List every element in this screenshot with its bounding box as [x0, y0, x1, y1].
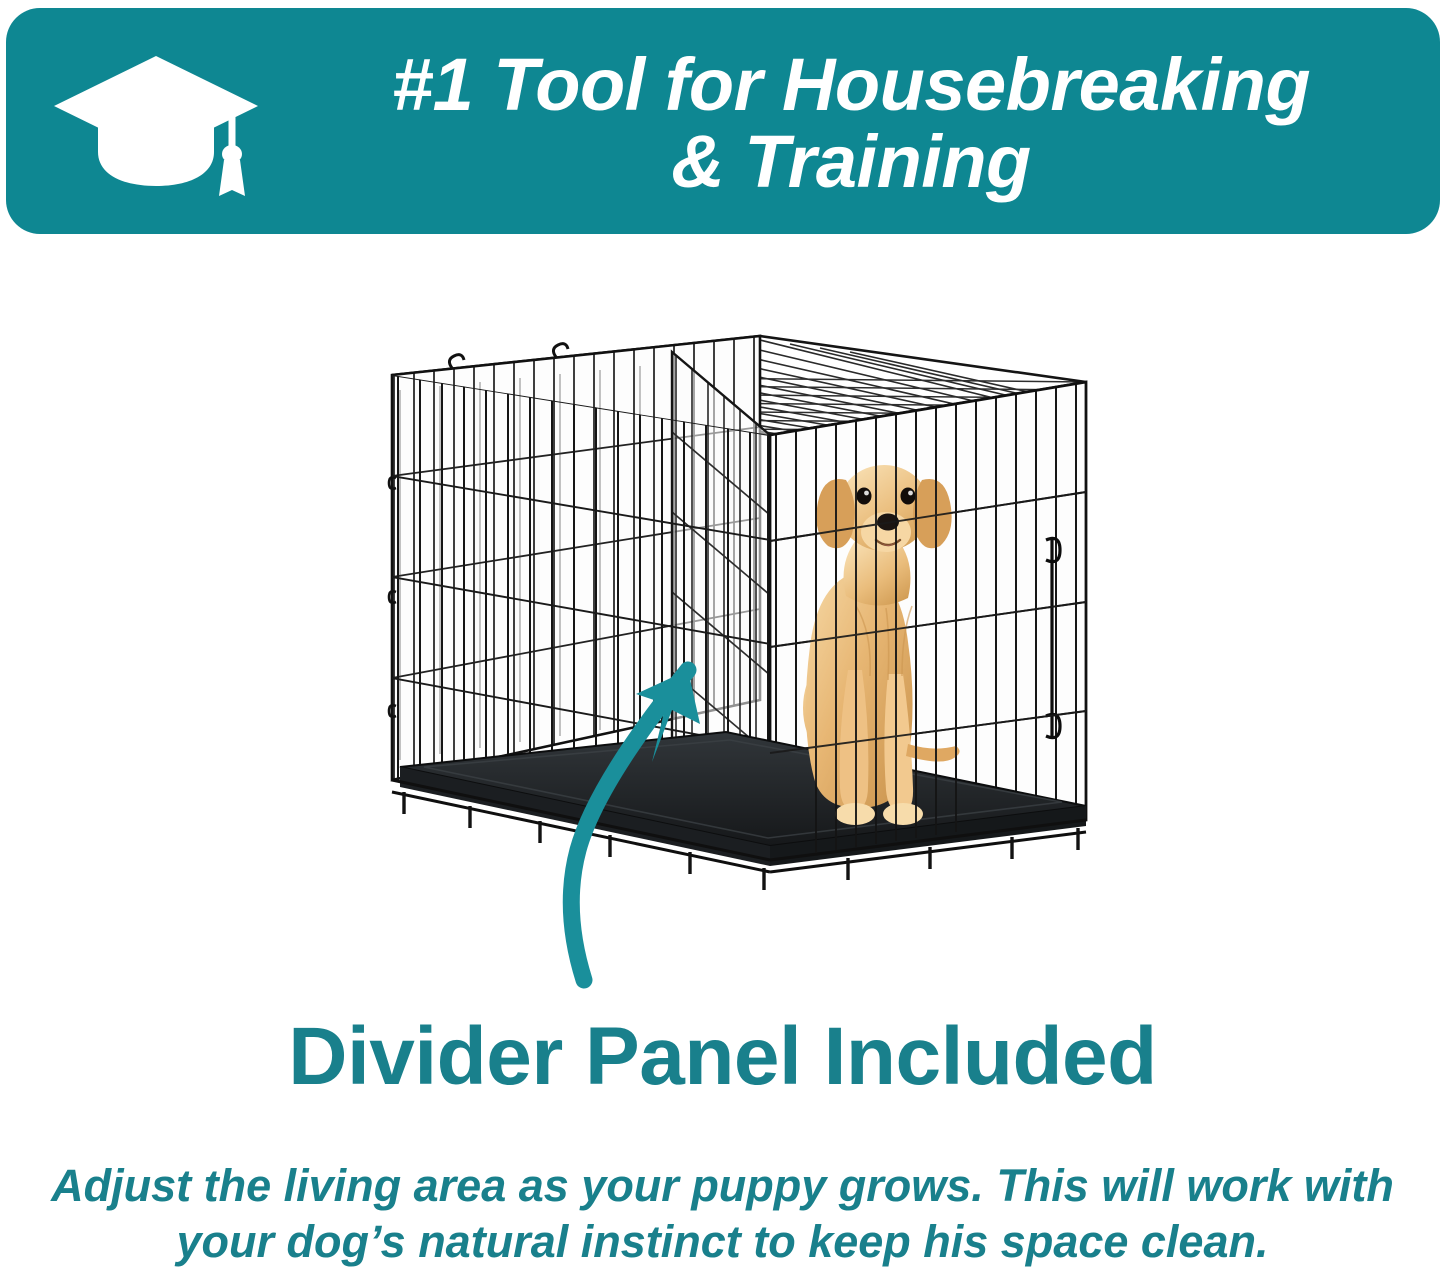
banner-title-line2: & Training	[671, 126, 1031, 199]
footer-caption-line2: your dog’s natural instinct to keep his …	[0, 1214, 1445, 1270]
banner-title-line1: #1 Tool for Housebreaking	[392, 49, 1310, 122]
header-banner: #1 Tool for Housebreaking & Training	[6, 8, 1440, 234]
graduation-cap-icon	[46, 44, 266, 204]
product-image	[0, 240, 1445, 1010]
footer-caption-line1: Adjust the living area as your puppy gro…	[0, 1158, 1445, 1214]
footer-headline: Divider Panel Included	[0, 1016, 1445, 1098]
footer-caption: Adjust the living area as your puppy gro…	[0, 1158, 1445, 1271]
banner-title: #1 Tool for Housebreaking & Training	[296, 24, 1406, 224]
